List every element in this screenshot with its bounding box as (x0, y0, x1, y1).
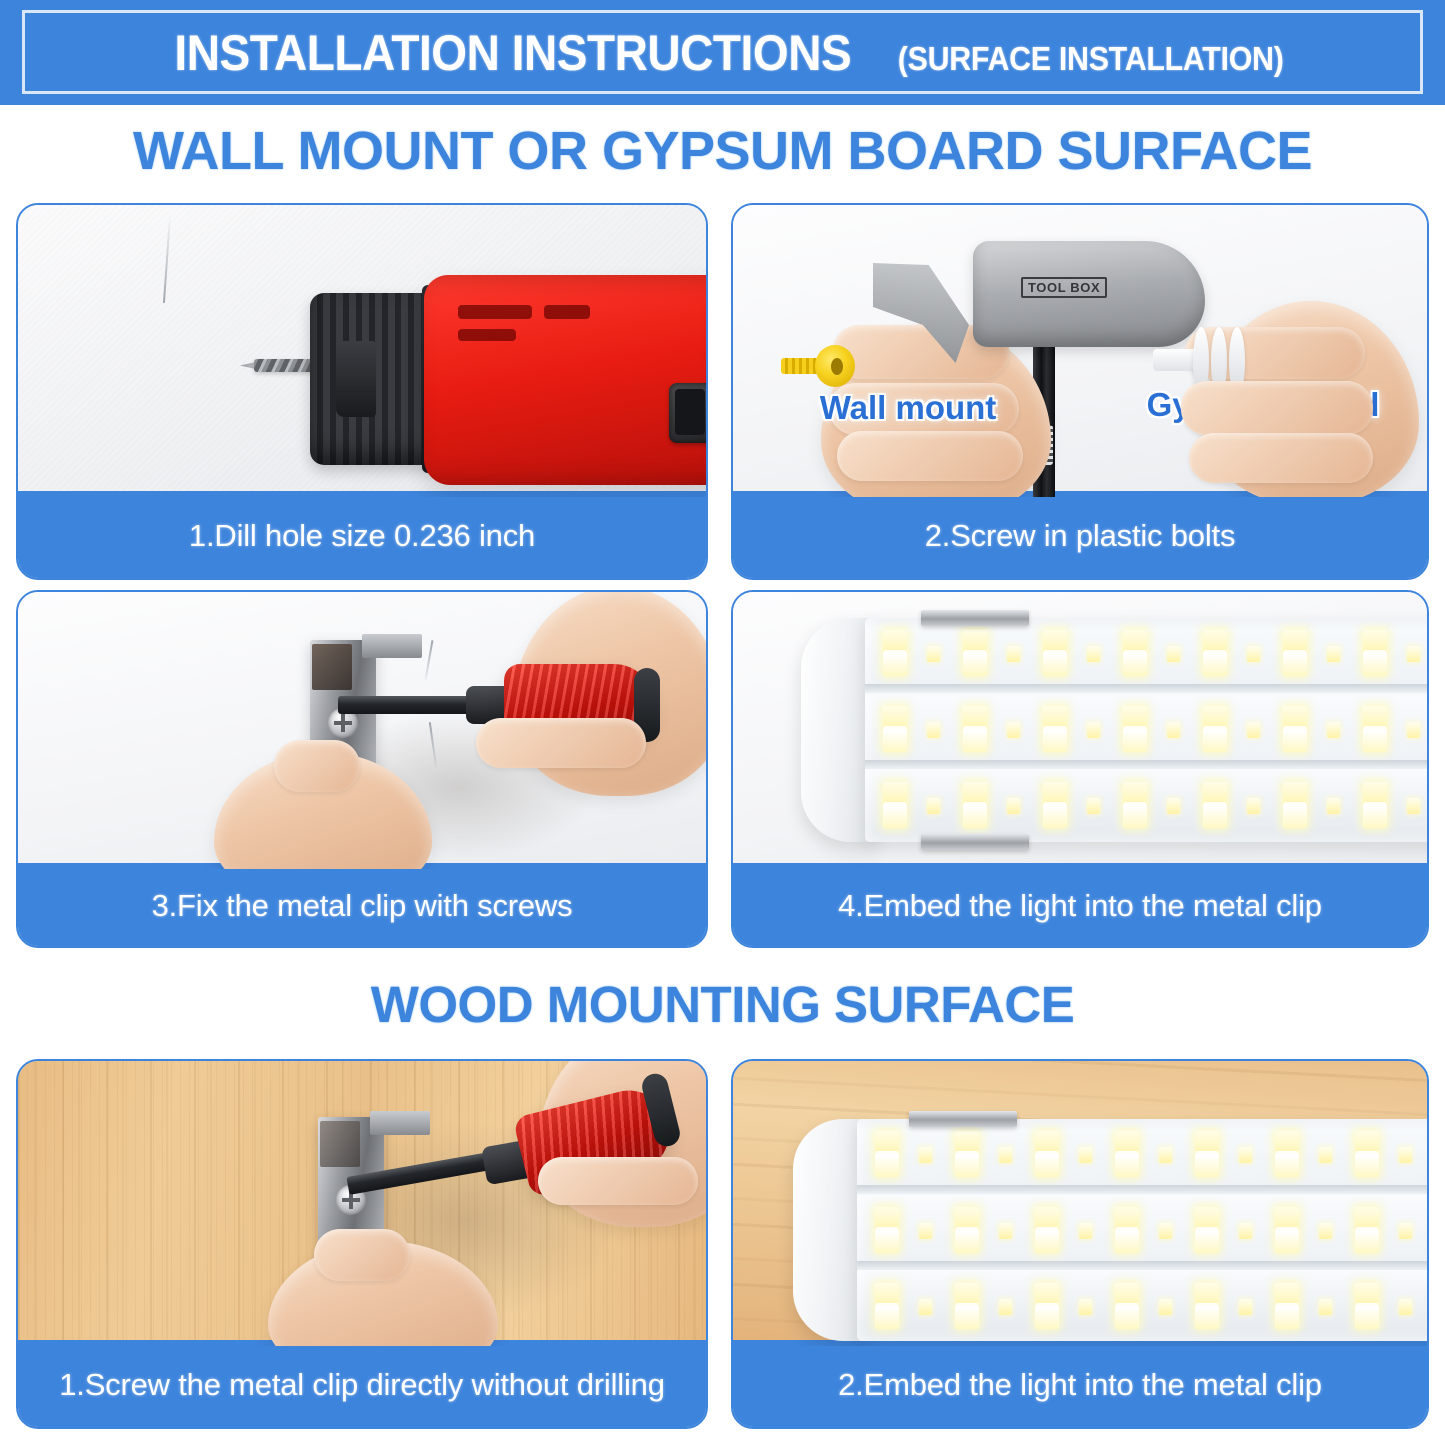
led-chip-small (1319, 1299, 1332, 1315)
drill-trigger-inner (675, 389, 705, 435)
led-row (875, 1207, 1427, 1265)
led-chip-small (1079, 1223, 1092, 1239)
led-chip (883, 630, 907, 676)
led-chip (963, 782, 987, 828)
step-4-photo (733, 592, 1427, 869)
led-chip (875, 1207, 899, 1253)
led-chip-small (927, 646, 940, 662)
led-chip (1043, 630, 1067, 676)
led-chip-small (999, 1223, 1012, 1239)
led-chip (1275, 1207, 1299, 1253)
page-title-main: INSTALLATION INSTRUCTIONS (174, 24, 851, 82)
led-chip-small (1239, 1147, 1252, 1163)
led-chip (1115, 1131, 1139, 1177)
led-chip (1283, 782, 1307, 828)
led-chip-small (1407, 722, 1420, 738)
led-chip-small (999, 1147, 1012, 1163)
led-chip (963, 706, 987, 752)
led-tube-diffuser (857, 1119, 1427, 1341)
led-chip (1035, 1207, 1059, 1253)
led-chip (963, 630, 987, 676)
led-chip (1195, 1207, 1219, 1253)
led-chip (955, 1283, 979, 1329)
led-chip-small (1247, 722, 1260, 738)
led-chip (1043, 782, 1067, 828)
callout-wall-mount: Wall mount (783, 390, 1033, 426)
led-chip-small (1007, 798, 1020, 814)
led-chip (1115, 1283, 1139, 1329)
step-2-caption: 2.Screw in plastic bolts (731, 491, 1429, 580)
led-chip (883, 782, 907, 828)
led-row (883, 630, 1427, 688)
led-tube-diffuser (865, 618, 1427, 842)
led-chip-small (1159, 1223, 1172, 1239)
step-5-photo (18, 1061, 706, 1346)
led-row (875, 1283, 1427, 1341)
step-2-photo: TOOL BOX Wall mount Gypsum b (733, 205, 1427, 497)
led-chip (1275, 1131, 1299, 1177)
power-drill-illustration: 1-3-5-7-9-11 (254, 267, 706, 497)
led-chip-small (1407, 798, 1420, 814)
step-panel-5: 1.Screw the metal clip directly without … (16, 1059, 708, 1429)
led-chip (1195, 1131, 1219, 1177)
led-chip (1363, 630, 1387, 676)
drill-trigger-button (669, 383, 706, 443)
led-chip-small (1079, 1147, 1092, 1163)
led-chip (1355, 1283, 1379, 1329)
led-chip-small (1087, 798, 1100, 814)
step-3-photo (18, 592, 706, 869)
led-chip (1043, 706, 1067, 752)
led-chip-small (919, 1147, 932, 1163)
led-chip (1283, 706, 1307, 752)
led-chip-small (1007, 722, 1020, 738)
led-chip (955, 1131, 979, 1177)
drill-vent (458, 329, 516, 341)
right-hand-finger (1181, 381, 1373, 435)
led-chip-small (1399, 1299, 1412, 1315)
led-chip (1123, 706, 1147, 752)
led-chip-small (1159, 1147, 1172, 1163)
installation-instructions-page: INSTALLATION INSTRUCTIONS (SURFACE INSTA… (0, 0, 1445, 1438)
led-chip-small (1327, 646, 1340, 662)
led-chip (875, 1283, 899, 1329)
led-chip-small (1159, 1299, 1172, 1315)
hammer-brand-label: TOOL BOX (1021, 277, 1107, 298)
page-title: INSTALLATION INSTRUCTIONS (SURFACE INSTA… (145, 24, 1300, 82)
led-chip (1203, 706, 1227, 752)
drill-vent (458, 305, 532, 319)
right-hand-finger (538, 1157, 698, 1205)
led-chip (1115, 1207, 1139, 1253)
metal-clip-tab (362, 634, 422, 658)
right-hand-finger (1189, 433, 1373, 483)
led-chip-small (1319, 1223, 1332, 1239)
step-panel-2: TOOL BOX Wall mount Gypsum b (731, 203, 1429, 580)
drill-chuck-nose (336, 341, 376, 417)
yellow-plastic-bolt (781, 345, 855, 387)
metal-clip-mounted (921, 610, 1029, 626)
led-chip (1195, 1283, 1219, 1329)
led-chip-small (1399, 1223, 1412, 1239)
led-chip (1363, 782, 1387, 828)
led-chip (1123, 782, 1147, 828)
left-hand-thumb (274, 740, 360, 792)
led-chip-small (1327, 722, 1340, 738)
header-banner: INSTALLATION INSTRUCTIONS (SURFACE INSTA… (0, 0, 1445, 105)
step-1-photo: 1-3-5-7-9-11 (18, 205, 706, 497)
left-hand-thumb (314, 1229, 410, 1281)
step-1-caption: 1.Dill hole size 0.236 inch (16, 491, 708, 580)
led-chip-small (927, 722, 940, 738)
led-chip (1275, 1283, 1299, 1329)
page-title-sub: (SURFACE INSTALLATION) (897, 40, 1283, 78)
step-4-caption: 4.Embed the light into the metal clip (731, 863, 1429, 948)
led-chip-small (1079, 1299, 1092, 1315)
step-6-caption: 2.Embed the light into the metal clip (731, 1340, 1429, 1429)
led-chip-small (1087, 722, 1100, 738)
led-chip-small (1087, 646, 1100, 662)
step-6-photo (733, 1061, 1427, 1346)
led-chip (1035, 1131, 1059, 1177)
left-hand-finger (837, 431, 1023, 481)
right-hand-finger (476, 718, 646, 768)
drill-vent (544, 305, 590, 319)
led-chip (1283, 630, 1307, 676)
led-chip-small (1319, 1147, 1332, 1163)
led-chip-small (1247, 798, 1260, 814)
led-row (883, 706, 1427, 764)
section-heading-wood-mounting: WOOD MOUNTING SURFACE (0, 975, 1445, 1034)
yellow-bolt-hole (831, 358, 843, 375)
step-panel-4: 4.Embed the light into the metal clip (731, 590, 1429, 948)
screwdriver-shaft (338, 696, 478, 714)
led-row (875, 1131, 1427, 1189)
led-chip-small (1247, 646, 1260, 662)
led-chip (883, 706, 907, 752)
led-chip (1035, 1283, 1059, 1329)
led-tube-light (793, 1119, 1427, 1341)
led-chip-small (919, 1299, 932, 1315)
led-chip-small (1167, 798, 1180, 814)
led-chip-small (1407, 646, 1420, 662)
led-chip-small (1327, 798, 1340, 814)
led-chip (1203, 630, 1227, 676)
metal-clip-shadowed-face (320, 1121, 360, 1167)
led-chip-small (927, 798, 940, 814)
led-chip-small (919, 1223, 932, 1239)
step-5-caption: 1.Screw the metal clip directly without … (16, 1340, 708, 1429)
led-tube-light (801, 618, 1427, 842)
led-chip (1123, 630, 1147, 676)
metal-clip-mounted (921, 834, 1029, 850)
led-chip-small (1167, 646, 1180, 662)
section-heading-wall-mount: WALL MOUNT OR GYPSUM BOARD SURFACE (0, 120, 1445, 182)
led-chip (1355, 1207, 1379, 1253)
led-chip-small (1239, 1223, 1252, 1239)
led-chip (875, 1131, 899, 1177)
led-chip (1203, 782, 1227, 828)
led-chip-small (1239, 1299, 1252, 1315)
led-chip (1355, 1131, 1379, 1177)
step-3-caption: 3.Fix the metal clip with screws (16, 863, 708, 948)
led-chip-small (999, 1299, 1012, 1315)
metal-clip-mounted (909, 1111, 1017, 1127)
led-row (883, 782, 1427, 840)
metal-clip-tab (370, 1111, 430, 1135)
drill-body (424, 275, 706, 485)
metal-clip-shadowed-face (312, 644, 352, 690)
led-chip (1363, 706, 1387, 752)
led-chip-small (1167, 722, 1180, 738)
led-chip (955, 1207, 979, 1253)
led-chip-small (1399, 1147, 1412, 1163)
step-panel-6: 2.Embed the light into the metal clip (731, 1059, 1429, 1429)
step-panel-1: 1-3-5-7-9-11 1.Dill hole size 0.236 inch (16, 203, 708, 580)
led-chip-small (1007, 646, 1020, 662)
step-panel-3: 3.Fix the metal clip with screws (16, 590, 708, 948)
